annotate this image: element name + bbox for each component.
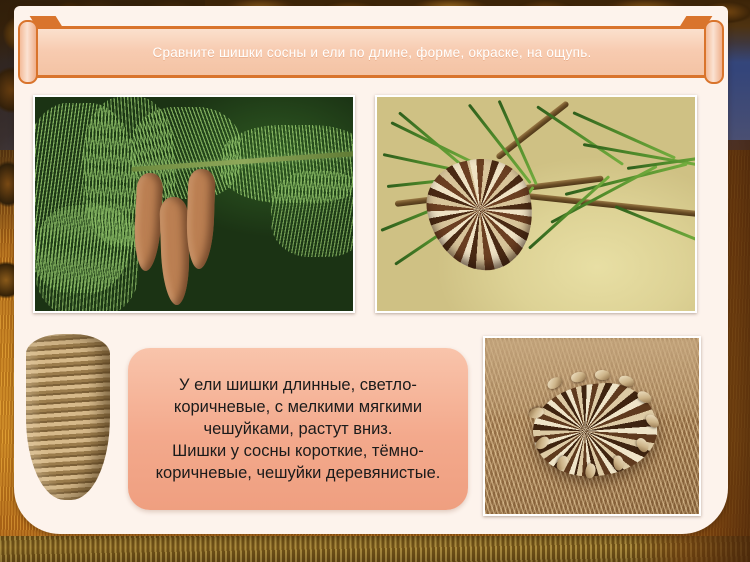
- slide-root: Сравните шишки сосны и ели по длине, фор…: [0, 0, 750, 562]
- photo-spruce-cone-cutout: [26, 334, 110, 500]
- photo-spruce-branch-with-cones: [33, 95, 355, 313]
- scroll-curl-right-icon: [704, 20, 724, 84]
- spruce-foliage-cluster: [271, 171, 355, 257]
- caption-line: У ели шишки длинные, светло-: [156, 374, 441, 396]
- photo-pine-branch-with-cone: [375, 95, 697, 313]
- caption-line: коричневые, с мелкими мягкими: [156, 396, 441, 418]
- scroll-curl-left-icon: [18, 20, 38, 84]
- spruce-cone-standalone: [26, 334, 110, 500]
- caption-line: чешуйками, растут вниз.: [156, 418, 441, 440]
- title-banner: Сравните шишки сосны и ели по длине, фор…: [18, 26, 724, 78]
- caption-text: У ели шишки длинные, светло- коричневые,…: [156, 374, 441, 485]
- caption-line: Шишки у сосны короткие, тёмно-: [156, 440, 441, 462]
- page-title: Сравните шишки сосны и ели по длине, фор…: [152, 45, 591, 60]
- caption-bubble: У ели шишки длинные, светло- коричневые,…: [128, 348, 468, 510]
- caption-line: коричневые, чешуйки деревянистые.: [156, 462, 441, 484]
- cone-scale: [595, 369, 611, 380]
- photo-pine-cone-on-needles: [483, 336, 701, 516]
- spruce-foliage-cluster: [35, 205, 139, 313]
- title-banner-body: Сравните шишки сосны и ели по длине, фор…: [36, 26, 708, 78]
